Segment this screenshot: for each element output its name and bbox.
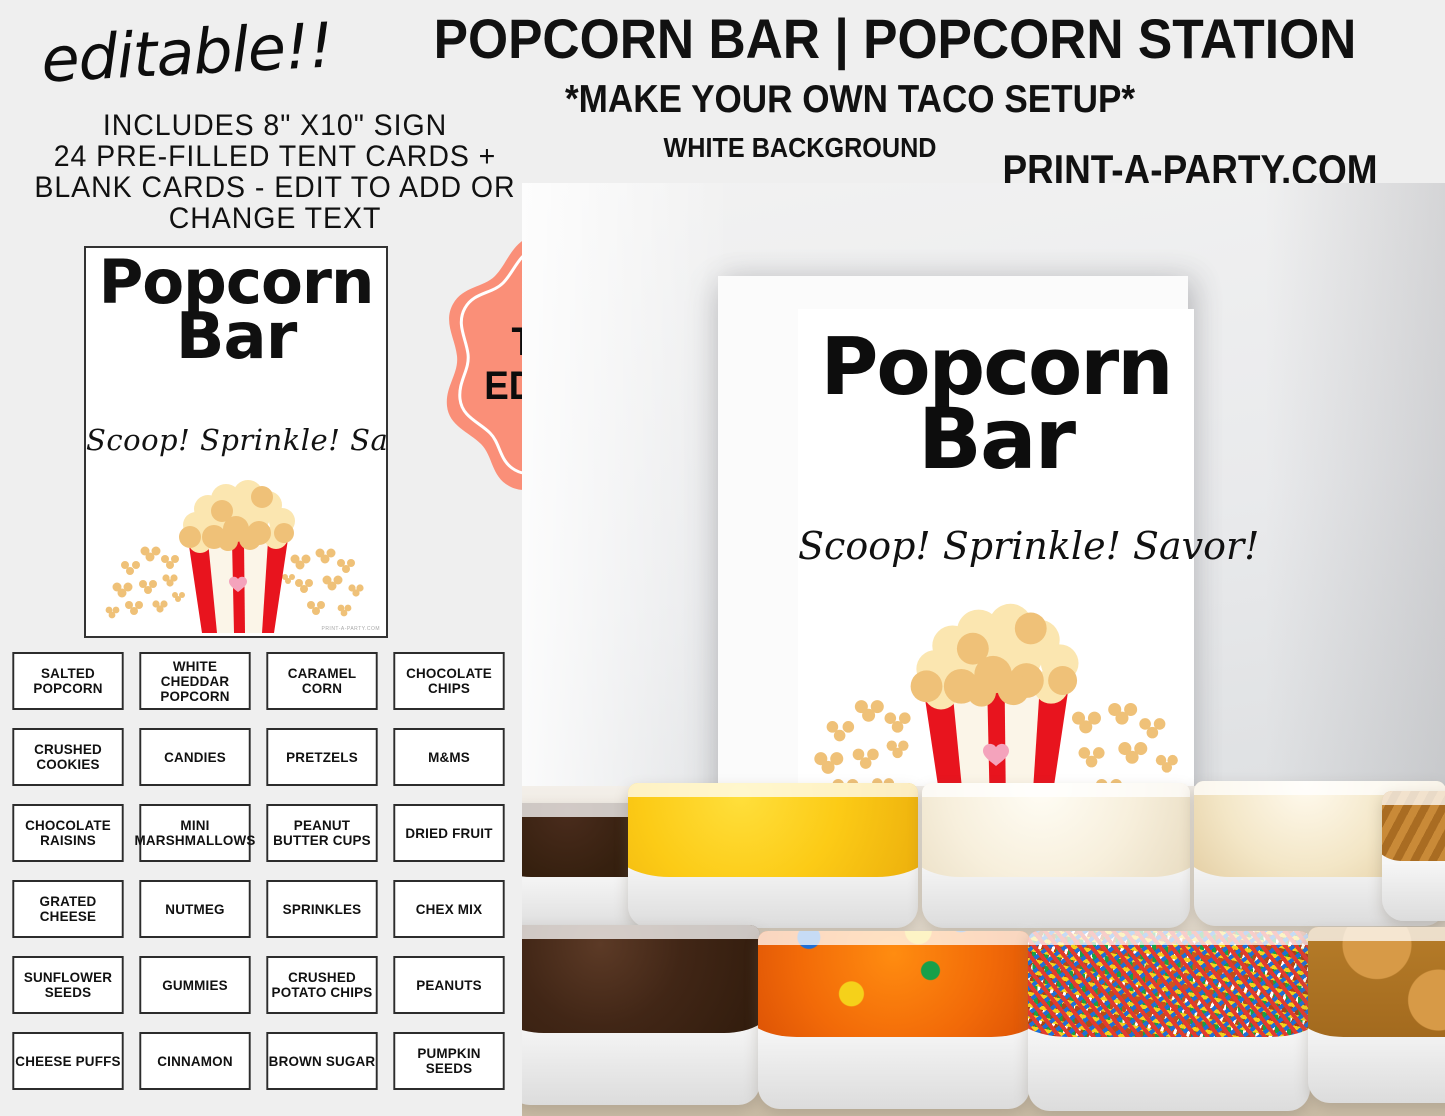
sign-preview-thumbnail: Popcorn Bar Scoop! Sprinkle! Savor!: [84, 246, 388, 638]
tent-cards-grid: SALTED POPCORN WHITE CHEDDAR POPCORN CAR…: [10, 652, 522, 1108]
framed-title-line-2: Bar: [798, 403, 1194, 475]
tent-card-row: CHEESE PUFFS CINNAMON BROWN SUGAR PUMPKI…: [10, 1032, 522, 1090]
page-title: POPCORN BAR | POPCORN STATION: [394, 6, 1397, 71]
tent-card-row: CRUSHED COOKIES CANDIES PRETZELS M&MS: [10, 728, 522, 786]
bowl-rim: [1028, 931, 1310, 945]
candy-pieces-heap: [758, 931, 1030, 1037]
framed-sign: Popcorn Bar Scoop! Sprinkle! Savor!: [798, 309, 1194, 829]
framed-sign-tagline: Scoop! Sprinkle! Savor!: [798, 524, 1194, 568]
includes-description: INCLUDES 8" X10" SIGN 24 PRE-FILLED TENT…: [23, 110, 527, 234]
tent-card: PEANUTS: [393, 956, 504, 1014]
tent-card-row: CHOCOLATE RAISINS MINI MARSHMALLOWS PEAN…: [10, 804, 522, 862]
bowl-chocolate-chips-front: [522, 925, 760, 1105]
sign-title: Popcorn Bar: [86, 256, 386, 364]
popcorn-container: [188, 539, 288, 633]
tent-card: GUMMIES: [139, 956, 250, 1014]
tent-card: PRETZELS: [266, 728, 377, 786]
tent-card: CHEESE PUFFS: [12, 1032, 123, 1090]
tent-card-row: GRATED CHEESE NUTMEG SPRINKLES CHEX MIX: [10, 880, 522, 938]
tent-card: GRATED CHEESE: [12, 880, 123, 938]
page-subtitle-primary: *MAKE YOUR OWN TACO SETUP*: [400, 78, 1300, 122]
bowl-pretzels-front: [1308, 927, 1445, 1103]
tent-card: CANDIES: [139, 728, 250, 786]
popcorn-kernels-left-scatter: [106, 547, 185, 619]
wall-shadow: [1265, 183, 1445, 823]
tent-card: SALTED POPCORN: [12, 652, 123, 710]
popcorn-box-icon: [104, 453, 372, 633]
product-listing-image: editable!! POPCORN BAR | POPCORN STATION…: [0, 0, 1445, 1116]
bowl-rim: [628, 783, 918, 797]
picture-frame: Popcorn Bar Scoop! Sprinkle! Savor!: [718, 276, 1188, 836]
bowl-pretzel-sticks-back: [1382, 791, 1445, 921]
bowl-plain-popcorn: [922, 783, 1190, 928]
bowl-rim: [922, 783, 1190, 797]
rainbow-sprinkles-heap: [1028, 931, 1310, 1037]
plain-popcorn-heap: [922, 783, 1190, 877]
tent-card: WHITE CHEDDAR POPCORN: [139, 652, 250, 710]
tent-card: CARAMEL CORN: [266, 652, 377, 710]
tent-card: CHOCOLATE CHIPS: [393, 652, 504, 710]
tent-card-row: SUNFLOWER SEEDS GUMMIES CRUSHED POTATO C…: [10, 956, 522, 1014]
tent-card: M&MS: [393, 728, 504, 786]
tent-card: MINI MARSHMALLOWS: [139, 804, 250, 862]
tent-card: SPRINKLES: [266, 880, 377, 938]
tent-card: CINNAMON: [139, 1032, 250, 1090]
tent-card: CHOCOLATE RAISINS: [12, 804, 123, 862]
tent-card: PEANUT BUTTER CUPS: [266, 804, 377, 862]
tent-card: BROWN SUGAR: [266, 1032, 377, 1090]
framed-sign-title: Popcorn Bar: [798, 331, 1194, 475]
cheese-popcorn-heap: [628, 783, 918, 877]
styled-photo: Popcorn Bar Scoop! Sprinkle! Savor!: [522, 183, 1445, 1116]
tent-card: SUNFLOWER SEEDS: [12, 956, 123, 1014]
includes-line-1: INCLUDES 8" X10" SIGN: [23, 110, 527, 141]
wall-highlight: [522, 183, 732, 823]
tent-card: PUMPKIN SEEDS: [393, 1032, 504, 1090]
bowl-rim: [522, 925, 760, 939]
tent-card: CHEX MIX: [393, 880, 504, 938]
bowl-candy-pieces: [758, 931, 1030, 1109]
bowl-cheese-popcorn: [628, 783, 918, 928]
includes-line-3: BLANK CARDS - EDIT TO ADD OR: [23, 172, 527, 203]
tent-card: NUTMEG: [139, 880, 250, 938]
sign-tagline: Scoop! Sprinkle! Savor!: [86, 423, 386, 457]
bowl-rim: [758, 931, 1030, 945]
popcorn-kernels-right-scatter: [282, 549, 364, 617]
bowl-rim: [1308, 927, 1445, 941]
bowl-rainbow-sprinkles: [1028, 931, 1310, 1111]
editable-script-tag: editable!!: [20, 1, 354, 108]
chocolate-chips-front-heap: [522, 925, 760, 1033]
popcorn-pile: [179, 480, 295, 553]
sign-watermark: PRINT-A-PARTY.COM: [321, 626, 380, 632]
tent-card: CRUSHED POTATO CHIPS: [266, 956, 377, 1014]
includes-line-2: 24 PRE-FILLED TENT CARDS +: [23, 141, 527, 172]
framed-popcorn-pile: [911, 604, 1079, 710]
tent-card: DRIED FRUIT: [393, 804, 504, 862]
tent-card: CRUSHED COOKIES: [12, 728, 123, 786]
pretzels-heap: [1308, 927, 1445, 1037]
bowl-rim: [1382, 791, 1445, 805]
sign-title-line-2: Bar: [86, 310, 386, 364]
tent-card-row: SALTED POPCORN WHITE CHEDDAR POPCORN CAR…: [10, 652, 522, 710]
